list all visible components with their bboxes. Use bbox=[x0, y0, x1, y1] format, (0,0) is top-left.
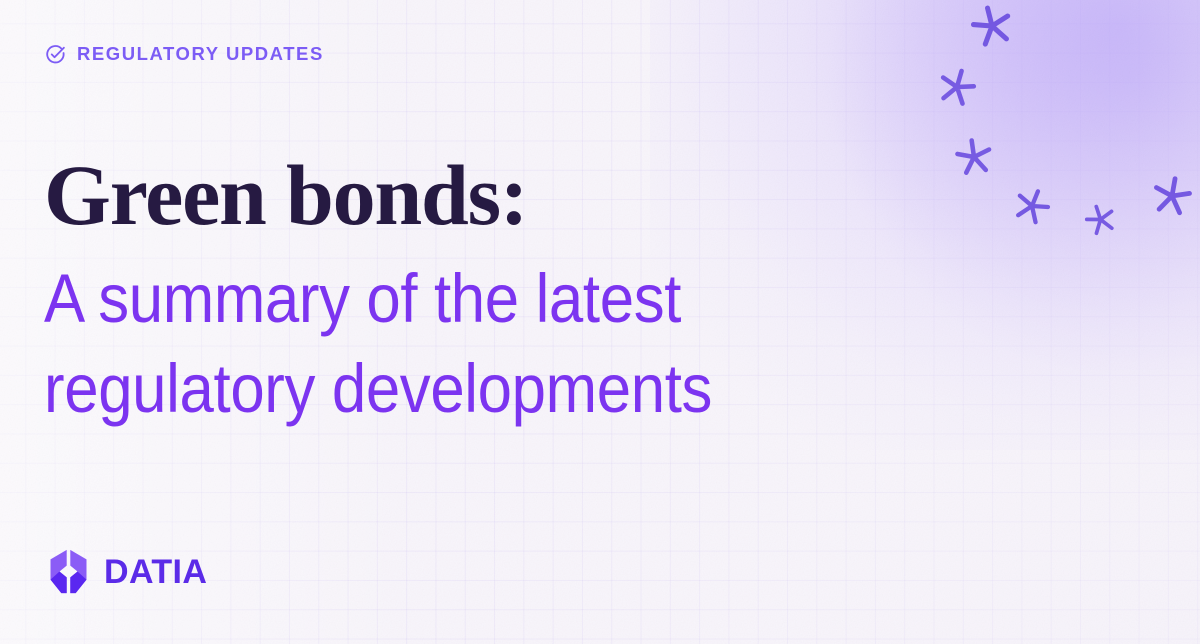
poster-canvas: REGULATORY UPDATES Green bonds: A summar… bbox=[0, 0, 1200, 644]
star-asterisk-icon bbox=[1009, 183, 1056, 230]
subtitle-line-1: A summary of the latest bbox=[44, 254, 712, 344]
eyebrow-text: REGULATORY UPDATES bbox=[77, 45, 324, 64]
page-subtitle: A summary of the latest regulatory devel… bbox=[44, 254, 712, 435]
star-asterisk-icon bbox=[967, 1, 1018, 52]
star-asterisk-icon bbox=[933, 63, 980, 110]
star-asterisk-icon bbox=[953, 136, 996, 179]
page-title: Green bonds: bbox=[44, 152, 790, 240]
star-asterisk-icon bbox=[1081, 200, 1120, 239]
datia-hexagon-logo-icon bbox=[46, 549, 91, 594]
subtitle-line-2: regulatory developments bbox=[44, 344, 712, 434]
logo-wordmark: DATIA bbox=[104, 555, 207, 589]
circle-check-icon bbox=[45, 44, 66, 65]
background-glow-secondary bbox=[830, 0, 1200, 370]
eyebrow-label: REGULATORY UPDATES bbox=[45, 44, 324, 65]
star-asterisk-icon bbox=[1149, 173, 1195, 219]
brand-logo: DATIA bbox=[46, 549, 207, 594]
headline-block: Green bonds: A summary of the latest reg… bbox=[44, 152, 790, 434]
